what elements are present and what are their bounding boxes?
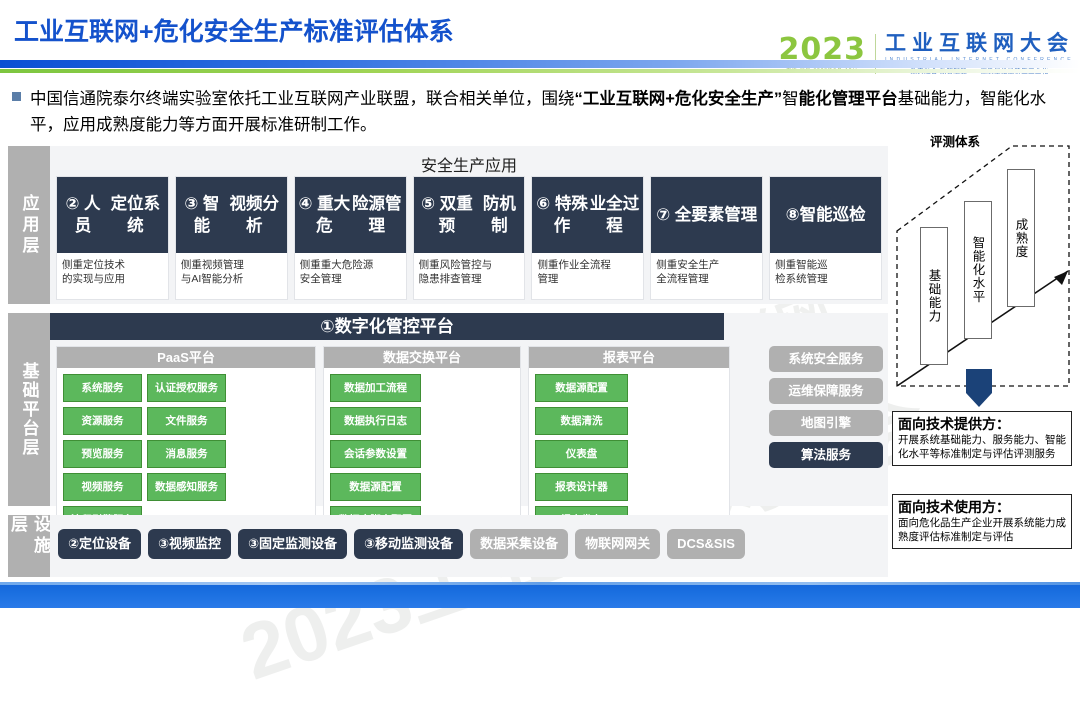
platform-chip[interactable]: 数据源配置 <box>330 473 421 501</box>
application-card[interactable]: ⑧智能巡检侧重智能巡检系统管理 <box>769 176 882 300</box>
platform-panel-title: 数据交换平台 <box>324 347 520 368</box>
application-card[interactable]: ⑥ 特殊作业全过程侧重作业全流程管理 <box>531 176 644 300</box>
facility-layer-label-text: 设施层 <box>6 515 52 577</box>
application-card-title: ⑤ 双重预防机制 <box>414 177 525 253</box>
platform-service-button[interactable]: 系统安全服务 <box>769 346 883 372</box>
application-layer: 应用层 安全生产应用 ② 人员定位系统侧重定位技术的实现与应用③ 智能视频分析侧… <box>8 146 888 304</box>
application-card[interactable]: ⑤ 双重预防机制侧重风险管控与隐患排查管理 <box>413 176 526 300</box>
platform-panel-title: 报表平台 <box>529 347 729 368</box>
application-layer-label-text: 应用层 <box>18 194 41 257</box>
application-card-title: ② 人员定位系统 <box>57 177 168 253</box>
note-user-title: 面向技术使用方： <box>898 498 1066 516</box>
note-provider: 面向技术提供方： 开展系统基础能力、服务能力、智能化水平等标准制定与评估评测服务 <box>892 411 1072 466</box>
note-user: 面向技术使用方： 面向危化品生产企业开展系统能力成熟度评估标准制定与评估 <box>892 494 1072 549</box>
platform-chip[interactable]: 认证授权服务 <box>147 374 226 402</box>
evaluation-bar-1: 基础能力 <box>920 227 948 365</box>
application-card-title: ⑥ 特殊作业全过程 <box>532 177 643 253</box>
application-card-desc: 侧重视频管理与AI智能分析 <box>176 253 287 299</box>
facility-item-button[interactable]: ②定位设备 <box>58 529 141 559</box>
intro-text-emphasis1: “工业互联网+危化安全生产” <box>575 90 783 108</box>
application-card-title: ③ 智能视频分析 <box>176 177 287 253</box>
application-card-title: ④ 重大危险源管理 <box>295 177 406 253</box>
platform-layer-label: 基础平台层 <box>8 313 50 506</box>
bullet-square-icon <box>12 92 21 101</box>
platform-service-button[interactable]: 地图引擎 <box>769 410 883 436</box>
header-divider-blue <box>0 60 1080 68</box>
facility-item-button[interactable]: ③移动监测设备 <box>354 529 463 559</box>
application-card-list: ② 人员定位系统侧重定位技术的实现与应用③ 智能视频分析侧重视频管理与AI智能分… <box>56 176 882 300</box>
application-card-title: ⑦ 全要素管理 <box>651 177 762 253</box>
facility-item-button[interactable]: 数据采集设备 <box>470 529 568 559</box>
platform-chip[interactable]: 仪表盘 <box>535 440 628 468</box>
facility-item-list: ②定位设备③视频监控③固定监测设备③移动监测设备数据采集设备物联网网关DCS&S… <box>58 529 880 559</box>
application-card-desc: 侧重安全生产全流程管理 <box>651 253 762 299</box>
platform-panel-title: PaaS平台 <box>57 347 315 368</box>
platform-chip[interactable]: 文件服务 <box>147 407 226 435</box>
application-card[interactable]: ⑦ 全要素管理侧重安全生产全流程管理 <box>650 176 763 300</box>
platform-chip[interactable]: 数据感知服务 <box>147 473 226 501</box>
platform-title-bar: ①数字化管控平台 <box>50 313 724 340</box>
platform-chip[interactable]: 数据加工流程 <box>330 374 421 402</box>
platform-chip[interactable]: 报表设计器 <box>535 473 628 501</box>
application-card[interactable]: ③ 智能视频分析侧重视频管理与AI智能分析 <box>175 176 288 300</box>
platform-service-button[interactable]: 运维保障服务 <box>769 378 883 404</box>
down-arrow-icon <box>966 369 992 407</box>
facility-layer-label: 设施层 <box>8 515 50 577</box>
application-card-title: ⑧智能巡检 <box>770 177 881 253</box>
application-card[interactable]: ④ 重大危险源管理侧重重大危险源安全管理 <box>294 176 407 300</box>
intro-text-part2: 智 <box>782 90 799 108</box>
evaluation-bar-3: 成熟度 <box>1007 169 1035 307</box>
intro-text-emphasis2: 能化管理平台 <box>799 90 898 108</box>
platform-chip[interactable]: 数据清洗 <box>535 407 628 435</box>
application-card-desc: 侧重定位技术的实现与应用 <box>57 253 168 299</box>
application-section-header: 安全生产应用 <box>50 146 888 176</box>
platform-service-buttons: 系统安全服务运维保障服务地图引擎算法服务 <box>769 346 883 468</box>
platform-layer-label-text: 基础平台层 <box>18 362 41 457</box>
platform-chip[interactable]: 系统服务 <box>63 374 142 402</box>
application-card[interactable]: ② 人员定位系统侧重定位技术的实现与应用 <box>56 176 169 300</box>
note-provider-body: 开展系统基础能力、服务能力、智能化水平等标准制定与评估评测服务 <box>898 434 1066 461</box>
evaluation-system-panel: 评测体系 基础能力 智能化水平 成熟度 面向技术提供方： 开展系统基础能力、服务… <box>892 131 1074 581</box>
application-card-desc: 侧重作业全流程管理 <box>532 253 643 299</box>
facility-item-button[interactable]: 物联网网关 <box>575 529 660 559</box>
facility-item-button[interactable]: DCS&SIS <box>667 529 745 559</box>
platform-chip[interactable]: 数据源配置 <box>535 374 628 402</box>
footer-bar <box>0 582 1080 608</box>
evaluation-bar-2: 智能化水平 <box>964 201 992 339</box>
platform-chip[interactable]: 资源服务 <box>63 407 142 435</box>
platform-chip[interactable]: 视频服务 <box>63 473 142 501</box>
logo-divider <box>875 34 876 74</box>
platform-service-button[interactable]: 算法服务 <box>769 442 883 468</box>
facility-layer: 设施层 ②定位设备③视频监控③固定监测设备③移动监测设备数据采集设备物联网网关D… <box>8 515 888 577</box>
platform-layer: 基础平台层 ①数字化管控平台 PaaS平台系统服务认证授权服务资源服务文件服务预… <box>8 313 888 506</box>
platform-chip[interactable]: 数据执行日志 <box>330 407 421 435</box>
architecture-diagram: 2023工业互联网大会 工业互联网 应用层 安全生产应用 ② 人员定位系统侧重定… <box>8 146 888 581</box>
application-card-desc: 侧重重大危险源安全管理 <box>295 253 406 299</box>
page-title: 工业互联网+危化安全生产标准评估体系 <box>14 12 454 48</box>
facility-item-button[interactable]: ③固定监测设备 <box>238 529 347 559</box>
platform-chip[interactable]: 会话参数设置 <box>330 440 421 468</box>
platform-chip[interactable]: 消息服务 <box>147 440 226 468</box>
platform-chip[interactable]: 预览服务 <box>63 440 142 468</box>
header-divider-green <box>0 69 1080 73</box>
facility-item-button[interactable]: ③视频监控 <box>148 529 231 559</box>
note-provider-title: 面向技术提供方： <box>898 415 1066 433</box>
note-user-body: 面向危化品生产企业开展系统能力成熟度评估标准制定与评估 <box>898 517 1066 544</box>
intro-text-part1: 中国信通院泰尔终端实验室依托工业互联网产业联盟，联合相关单位，围绕 <box>30 90 575 108</box>
application-layer-label: 应用层 <box>8 146 50 304</box>
application-card-desc: 侧重风险管控与隐患排查管理 <box>414 253 525 299</box>
application-card-desc: 侧重智能巡检系统管理 <box>770 253 881 299</box>
logo-chinese-name: 工业互联网大会 <box>885 33 1074 54</box>
